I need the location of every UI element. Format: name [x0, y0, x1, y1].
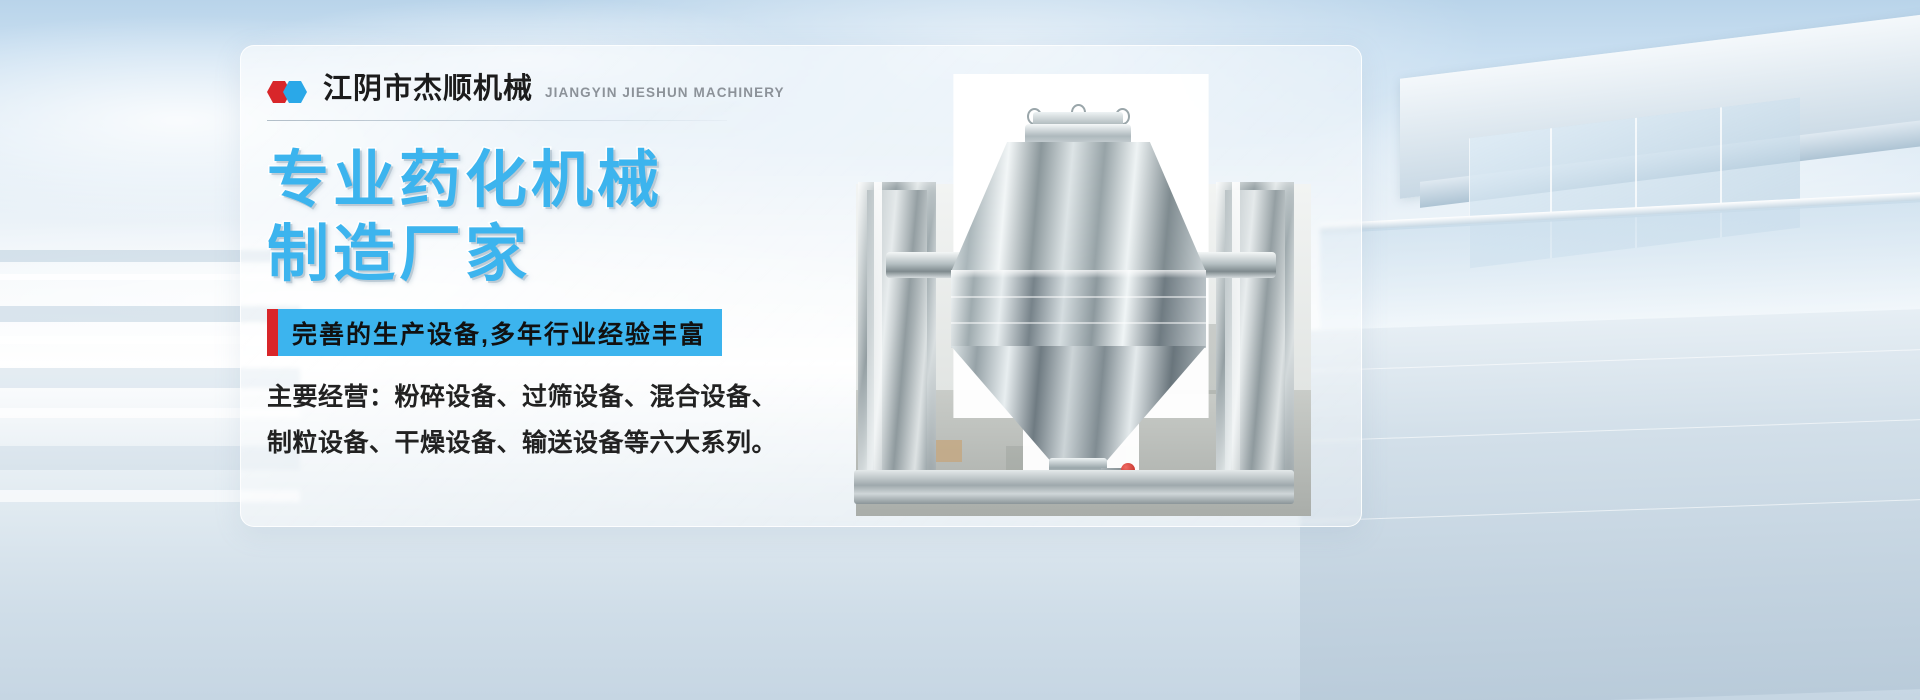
company-name-cn: 江阴市杰顺机械 [323, 74, 533, 104]
support-column-left [858, 182, 936, 482]
vessel-upper-cone [951, 142, 1206, 272]
promo-banner: 江阴市杰顺机械 JIANGYIN JIESHUN MACHINERY 专业药化机… [0, 0, 1920, 700]
product-photo [816, 54, 1341, 516]
architecture-background [1320, 0, 1920, 700]
tagline-bar: 完善的生产设备,多年行业经验丰富 [267, 309, 722, 356]
double-cone-vessel [951, 106, 1206, 436]
logo-divider [267, 120, 727, 121]
support-column-right [1216, 182, 1294, 482]
description-line-1: 主要经营：粉碎设备、过筛设备、混合设备、 [267, 374, 777, 420]
tagline-accent [267, 309, 278, 356]
logo-mark [267, 80, 311, 104]
description-line-2: 制粒设备、干燥设备、输送设备等六大系列。 [267, 420, 777, 466]
headline-line-1: 专业药化机械 [267, 144, 663, 218]
machine-base [854, 470, 1294, 504]
vessel-body-band [951, 270, 1206, 348]
brand-logo: 江阴市杰顺机械 JIANGYIN JIESHUN MACHINERY [267, 74, 785, 104]
headline: 专业药化机械 制造厂家 [267, 144, 663, 292]
headline-line-2: 制造厂家 [267, 218, 663, 292]
deck-floor [1300, 309, 1920, 700]
content-card: 江阴市杰顺机械 JIANGYIN JIESHUN MACHINERY 专业药化机… [240, 45, 1362, 527]
description: 主要经营：粉碎设备、过筛设备、混合设备、 制粒设备、干燥设备、输送设备等六大系列… [267, 374, 777, 466]
company-name-en: JIANGYIN JIESHUN MACHINERY [545, 85, 785, 104]
tagline-text: 完善的生产设备,多年行业经验丰富 [278, 315, 706, 351]
hexagon-blue-icon [283, 81, 307, 103]
